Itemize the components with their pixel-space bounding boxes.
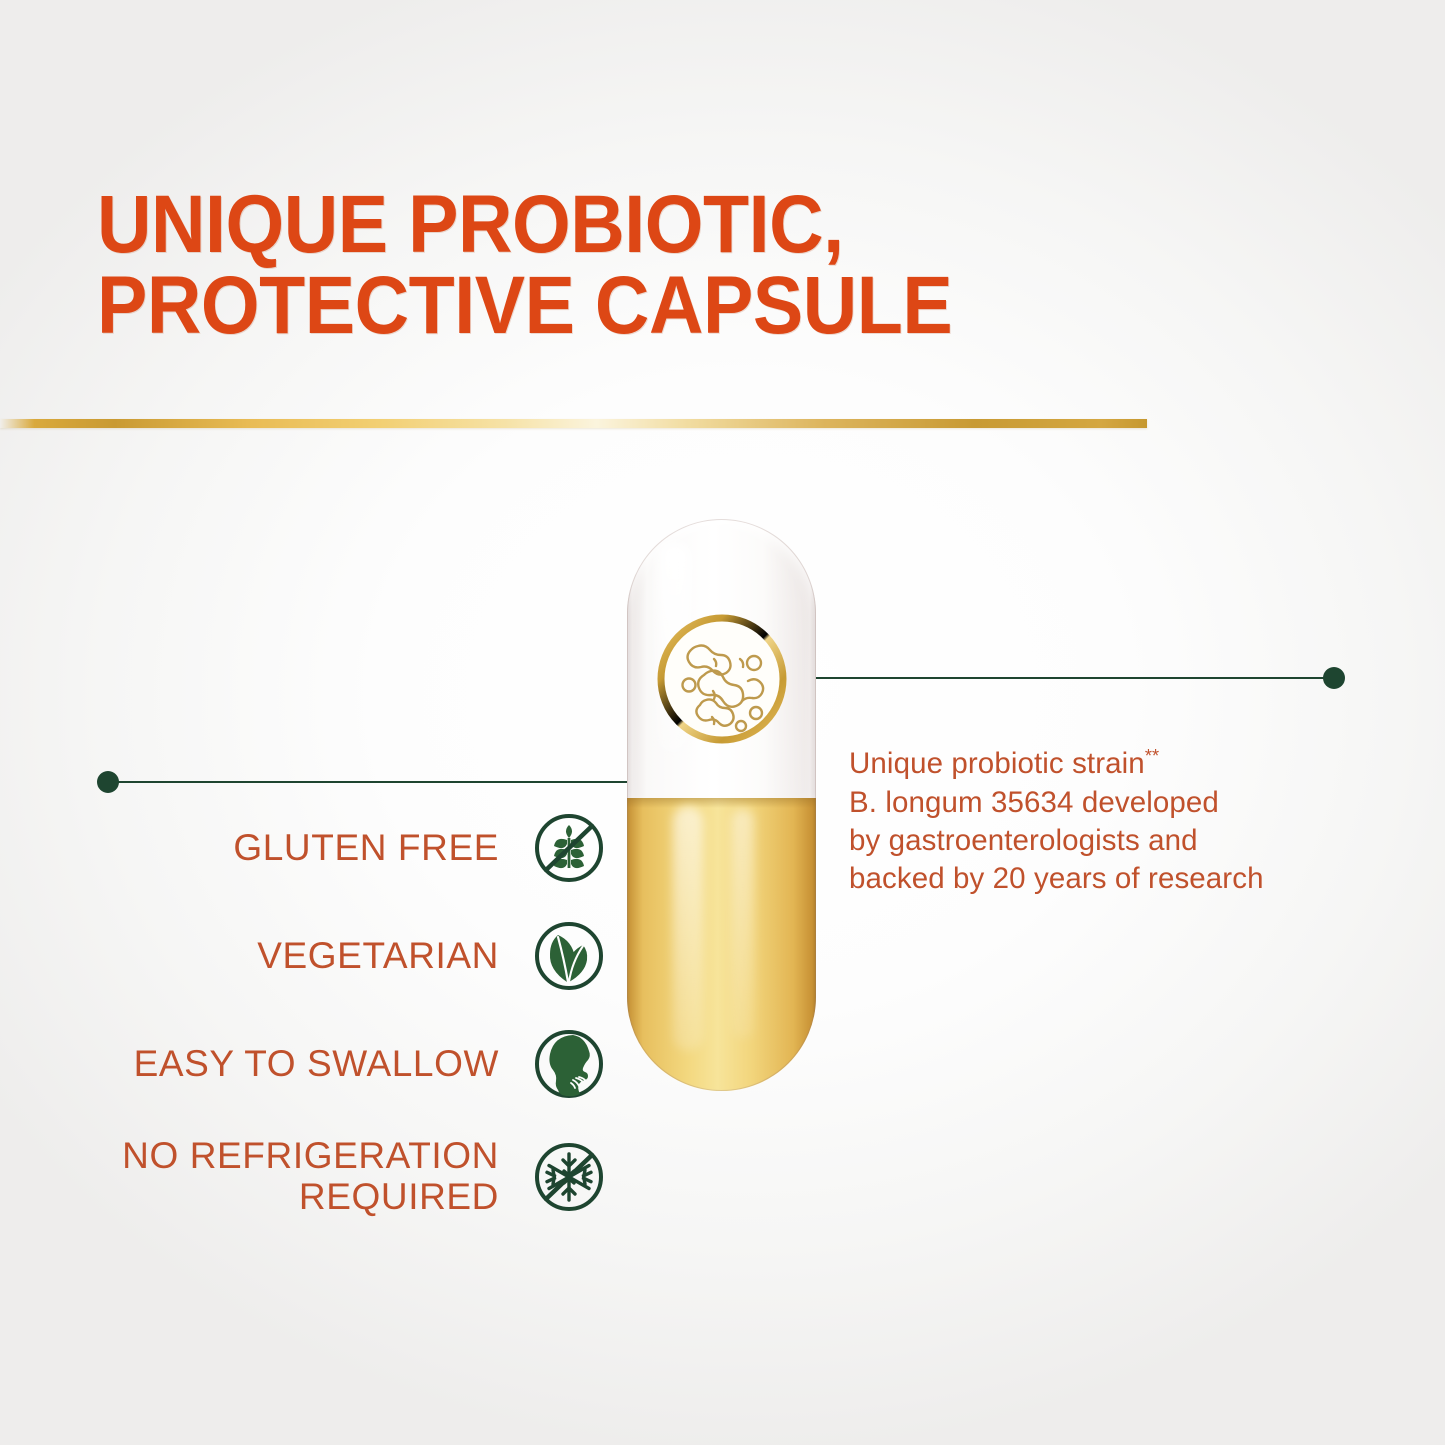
feature-label: NO REFRIGERATION REQUIRED — [122, 1136, 499, 1217]
feature-item-no-refrigeration: NO REFRIGERATION REQUIRED — [60, 1136, 605, 1217]
feature-item-gluten-free: GLUTEN FREE — [60, 812, 605, 884]
feature-list: GLUTEN FREE — [60, 812, 605, 1217]
feature-label: VEGETARIAN — [257, 936, 499, 977]
feature-label: EASY TO SWALLOW — [134, 1044, 499, 1085]
vegetarian-leaves-icon — [533, 920, 605, 992]
feature-label: GLUTEN FREE — [233, 828, 499, 869]
easy-to-swallow-head-icon — [533, 1028, 605, 1100]
callout-footnote-marker: ** — [1145, 745, 1159, 766]
callout-text-right: Unique probiotic strain** B. longum 3563… — [849, 706, 1349, 899]
page-title: UNIQUE PROBIOTIC, PROTECTIVE CAPSULE — [97, 184, 1081, 346]
leader-dot-right — [1323, 667, 1345, 689]
probiotic-capsule — [627, 519, 816, 1091]
leader-line-right — [786, 677, 1331, 679]
probiotic-bacteria-icon — [656, 613, 788, 745]
feature-item-vegetarian: VEGETARIAN — [60, 920, 605, 992]
leader-dot-left — [97, 771, 119, 793]
callout-line-1: Unique probiotic strain — [849, 747, 1145, 780]
leader-line-left — [112, 781, 640, 783]
feature-item-easy-to-swallow: EASY TO SWALLOW — [60, 1028, 605, 1100]
callout-rest: B. longum 35634 developed by gastroenter… — [849, 786, 1264, 896]
capsule-bottom-half — [627, 798, 816, 1091]
gluten-free-icon — [533, 812, 605, 884]
no-refrigeration-snowflake-icon — [533, 1141, 605, 1213]
gold-divider — [0, 419, 1147, 428]
product-infographic: UNIQUE PROBIOTIC, PROTECTIVE CAPSULE — [0, 0, 1445, 1445]
